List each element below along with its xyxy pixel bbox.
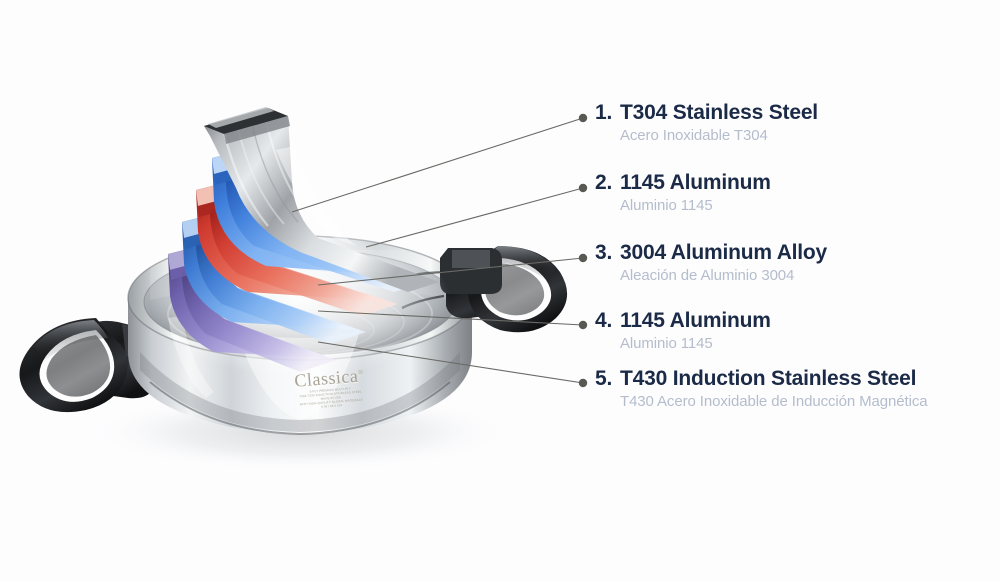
callout-number-2: 2.	[595, 170, 620, 195]
callout-title-2: 2. 1145 Aluminum	[595, 170, 771, 195]
callout-number-4: 4.	[595, 308, 620, 333]
callout-title-5: 5. T430 Induction Stainless Steel	[595, 366, 927, 391]
callout-subtitle-1: Acero Inoxidable T304	[595, 126, 818, 145]
callout-item-1: 1. T304 Stainless Steel Acero Inoxidable…	[595, 100, 818, 145]
callout-number-3: 3.	[595, 240, 620, 265]
callout-name-5: T430 Induction Stainless Steel	[620, 366, 916, 391]
callout-item-3: 3. 3004 Aluminum Alloy Aleación de Alumi…	[595, 240, 827, 285]
callout-title-4: 4. 1145 Aluminum	[595, 308, 771, 333]
callout-name-4: 1145 Aluminum	[620, 308, 771, 333]
callout-list: 1. T304 Stainless Steel Acero Inoxidable…	[0, 0, 1000, 581]
callout-name-3: 3004 Aluminum Alloy	[620, 240, 827, 265]
callout-name-2: 1145 Aluminum	[620, 170, 771, 195]
diagram-canvas: Classica® 5-PLY PREMIUM MULTI-PLY T304-T…	[0, 0, 1000, 581]
callout-item-5: 5. T430 Induction Stainless Steel T430 A…	[595, 366, 927, 411]
callout-name-1: T304 Stainless Steel	[620, 100, 818, 125]
callout-number-1: 1.	[595, 100, 620, 125]
callout-title-3: 3. 3004 Aluminum Alloy	[595, 240, 827, 265]
callout-subtitle-2: Aluminio 1145	[595, 196, 771, 215]
callout-item-4: 4. 1145 Aluminum Aluminio 1145	[595, 308, 771, 353]
callout-number-5: 5.	[595, 366, 620, 391]
callout-subtitle-3: Aleación de Aluminio 3004	[595, 266, 827, 285]
callout-subtitle-5: T430 Acero Inoxidable de Inducción Magné…	[595, 392, 927, 411]
callout-subtitle-4: Aluminio 1145	[595, 334, 771, 353]
callout-item-2: 2. 1145 Aluminum Aluminio 1145	[595, 170, 771, 215]
callout-title-1: 1. T304 Stainless Steel	[595, 100, 818, 125]
